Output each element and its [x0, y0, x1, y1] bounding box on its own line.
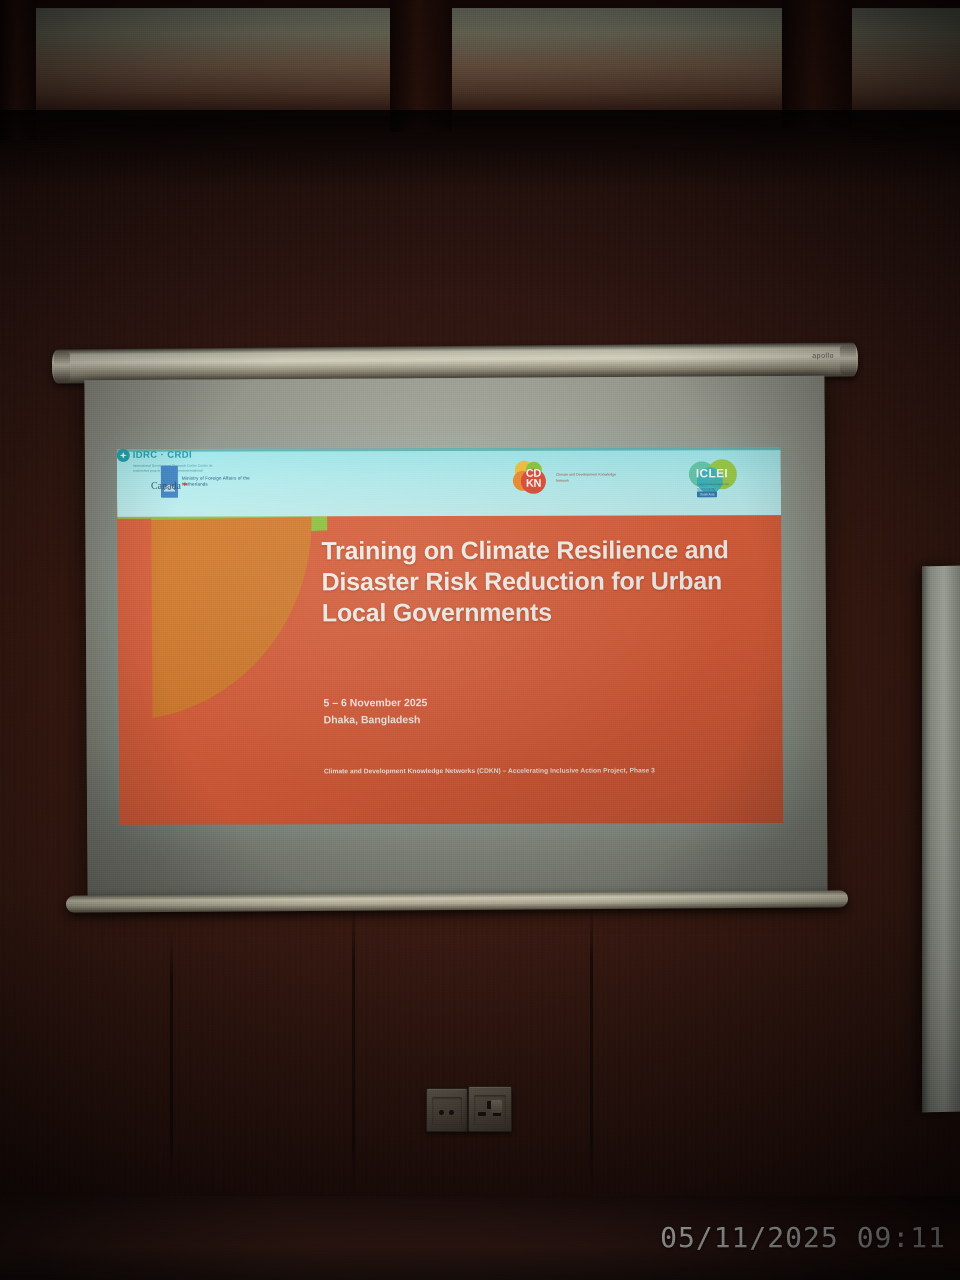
timestamp-date: 05/11/2025	[660, 1221, 839, 1254]
wall-panel-seam	[590, 900, 593, 1200]
logo-ministry-label: Ministry of Foreign Affairs of the Nethe…	[182, 475, 256, 488]
socket-switch[interactable]	[491, 1100, 502, 1113]
canada-wordmark: Canada	[151, 481, 181, 492]
cdkn-letters-bottom: KN	[526, 479, 541, 489]
wall-panel-seam	[170, 930, 173, 1190]
socket-face	[474, 1095, 506, 1125]
iclei-circles-icon: ICLEI Local Governments for Sustainabili…	[687, 459, 743, 499]
whiteboard	[922, 566, 960, 1113]
socket-hole	[439, 1110, 444, 1115]
cdkn-lettermark: CD KN	[526, 470, 541, 489]
iclei-wordmark: ICLEI	[696, 466, 728, 480]
logo-cdkn: CD KN Climate and Development Knowledge …	[513, 461, 620, 497]
ceiling-shadow	[0, 110, 960, 190]
ceiling-panel	[852, 8, 960, 120]
logo-row: Ministry of Foreign Affairs of the Nethe…	[117, 447, 781, 517]
ceiling-panel	[30, 8, 390, 120]
socket-live-slot	[478, 1112, 486, 1116]
photo-scene: apollo Ministry of Foreign Affairs of th…	[0, 0, 960, 1280]
roller-cap-left	[54, 351, 70, 381]
slide-title: Training on Climate Resilience and Disas…	[321, 535, 758, 629]
cdkn-blob-icon: CD KN	[513, 461, 549, 497]
idrc-star-icon	[117, 449, 130, 462]
screen-brand-label: apollo	[812, 353, 834, 360]
three-pin-switched-power-socket[interactable]	[468, 1086, 512, 1132]
roller-cap-right	[840, 345, 856, 375]
camera-timestamp-overlay: 05/11/2025 09:11	[660, 1221, 946, 1254]
slide-date-location: 5 – 6 November 2025 Dhaka, Bangladesh	[323, 694, 723, 729]
slide-date: 5 – 6 November 2025	[323, 694, 723, 712]
idrc-wordmark: IDRC · CRDI	[133, 450, 192, 461]
ceiling-beam	[782, 0, 852, 128]
decorative-mask	[117, 519, 153, 729]
slide-location: Dhaka, Bangladesh	[324, 711, 724, 729]
socket-hole	[449, 1110, 454, 1115]
socket-face	[432, 1097, 462, 1125]
wall-panel-seam	[352, 900, 355, 1200]
whiteboard-frame	[922, 566, 928, 1112]
idrc-lockup: IDRC · CRDI	[117, 447, 781, 462]
ceiling-panel	[452, 8, 782, 120]
iclei-region-tag: South Asia	[697, 491, 717, 497]
slide-canvas: Ministry of Foreign Affairs of the Nethe…	[117, 447, 784, 825]
cdkn-subtitle: Climate and Development Knowledge Networ…	[556, 473, 620, 485]
timestamp-time: 09:11	[857, 1221, 946, 1254]
slide-footer: Climate and Development Knowledge Networ…	[324, 767, 754, 775]
two-pin-power-socket[interactable]	[426, 1088, 468, 1132]
logo-iclei: ICLEI Local Governments for Sustainabili…	[687, 459, 743, 499]
projected-slide: Ministry of Foreign Affairs of the Nethe…	[117, 447, 784, 825]
